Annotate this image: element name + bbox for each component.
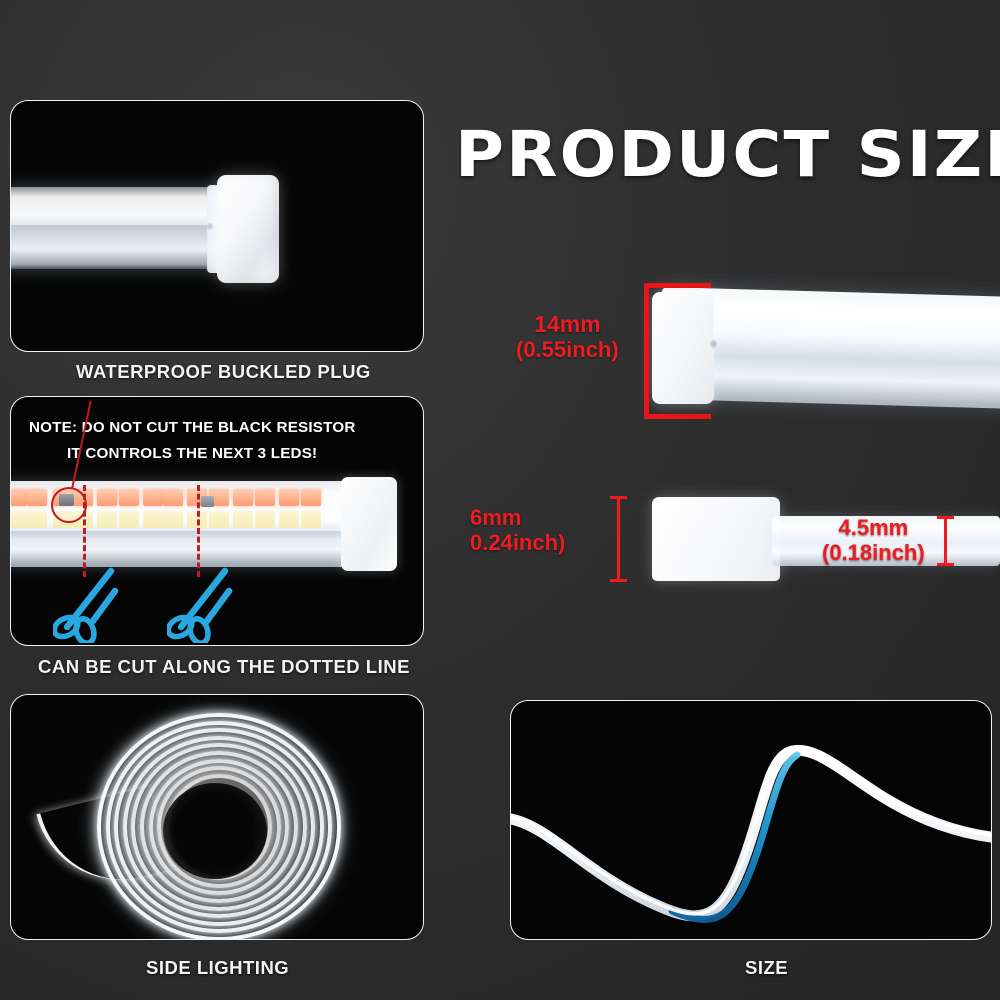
led-chip-bottom	[301, 511, 321, 528]
dimension-cap-dot-icon	[710, 340, 717, 348]
led-chip-top	[163, 489, 183, 506]
led-chip-top	[119, 489, 139, 506]
dimension-cap-bottom	[652, 497, 780, 581]
dimension-imperial-14mm: (0.55inch)	[516, 338, 619, 363]
led-chip	[163, 489, 183, 531]
led-chip	[233, 489, 253, 531]
dimension-label-6mm: 6mm 0.24inch)	[470, 506, 565, 555]
led-chip	[279, 489, 299, 531]
caption-size: SIZE	[745, 957, 788, 979]
led-chip	[143, 489, 163, 531]
led-chip-top	[255, 489, 275, 506]
led-chip-top	[233, 489, 253, 506]
panel-cut-line: NOTE: DO NOT CUT THE BLACK RESISTOR IT C…	[10, 396, 424, 646]
led-chip-bottom	[163, 511, 183, 528]
flexible-strip-image	[511, 701, 991, 939]
led-chip-top	[97, 489, 117, 506]
dimension-label-14mm: 14mm (0.55inch)	[516, 312, 619, 362]
coil-center-hole	[163, 783, 267, 879]
black-resistor-secondary	[201, 496, 214, 507]
circle-highlight-icon	[51, 487, 87, 523]
dimension-metric-6mm: 6mm	[470, 506, 565, 531]
measure-bracket-14mm	[644, 283, 711, 419]
led-chip	[10, 489, 27, 531]
note-line-2: IT CONTROLS THE NEXT 3 LEDS!	[67, 445, 317, 462]
led-strip-end-cap	[341, 477, 397, 571]
led-chip-top	[10, 489, 27, 506]
caption-cut-line: CAN BE CUT ALONG THE DOTTED LINE	[38, 656, 410, 678]
plug-vent-dot-icon	[207, 223, 213, 230]
scissors-icon-2	[167, 565, 241, 643]
led-chip-top	[143, 489, 163, 506]
led-chip	[97, 489, 117, 531]
dimension-imperial-6mm: 0.24inch)	[470, 531, 565, 556]
led-chip-top	[27, 489, 47, 506]
dimension-metric-14mm: 14mm	[516, 312, 619, 338]
measure-line-4-5mm	[944, 516, 947, 566]
dimension-label-4-5mm: 4.5mm (0.18inch)	[822, 516, 925, 565]
dimension-imperial-4-5mm: (0.18inch)	[822, 541, 925, 566]
led-chip	[119, 489, 139, 531]
led-chip-top	[279, 489, 299, 506]
plug-end-cap	[217, 175, 279, 283]
led-chip	[27, 489, 47, 531]
panel-waterproof-plug	[10, 100, 424, 352]
panel-size-flexible	[510, 700, 992, 940]
panel-side-lighting	[10, 694, 424, 940]
scissors-icon-1	[53, 565, 127, 643]
infographic-canvas: PRODUCT SIZE WATERPROOF BUCKLED PLUG NOT…	[0, 0, 1000, 1000]
led-chip-bottom	[279, 511, 299, 528]
caption-side-lighting: SIDE LIGHTING	[146, 957, 289, 979]
led-chip-bottom	[119, 511, 139, 528]
led-chip-bottom	[233, 511, 253, 528]
measure-line-6mm	[617, 496, 620, 582]
led-chip-bottom	[97, 511, 117, 528]
dimension-metric-4-5mm: 4.5mm	[822, 516, 925, 541]
caption-waterproof-plug: WATERPROOF BUCKLED PLUG	[76, 361, 371, 383]
led-chip-bottom	[209, 511, 229, 528]
cut-line-2	[197, 485, 200, 577]
led-chip-bottom	[143, 511, 163, 528]
silicone-tube-image	[10, 187, 229, 269]
led-chip-bottom	[10, 511, 27, 528]
led-chip-bottom	[255, 511, 275, 528]
note-line-1: NOTE: DO NOT CUT THE BLACK RESISTOR	[29, 419, 356, 436]
cut-line-1	[83, 485, 86, 577]
led-chip	[301, 489, 321, 531]
led-chip-top	[301, 489, 321, 506]
led-chip	[255, 489, 275, 531]
led-chip-bottom	[27, 511, 47, 528]
page-title: PRODUCT SIZE	[455, 118, 1000, 191]
